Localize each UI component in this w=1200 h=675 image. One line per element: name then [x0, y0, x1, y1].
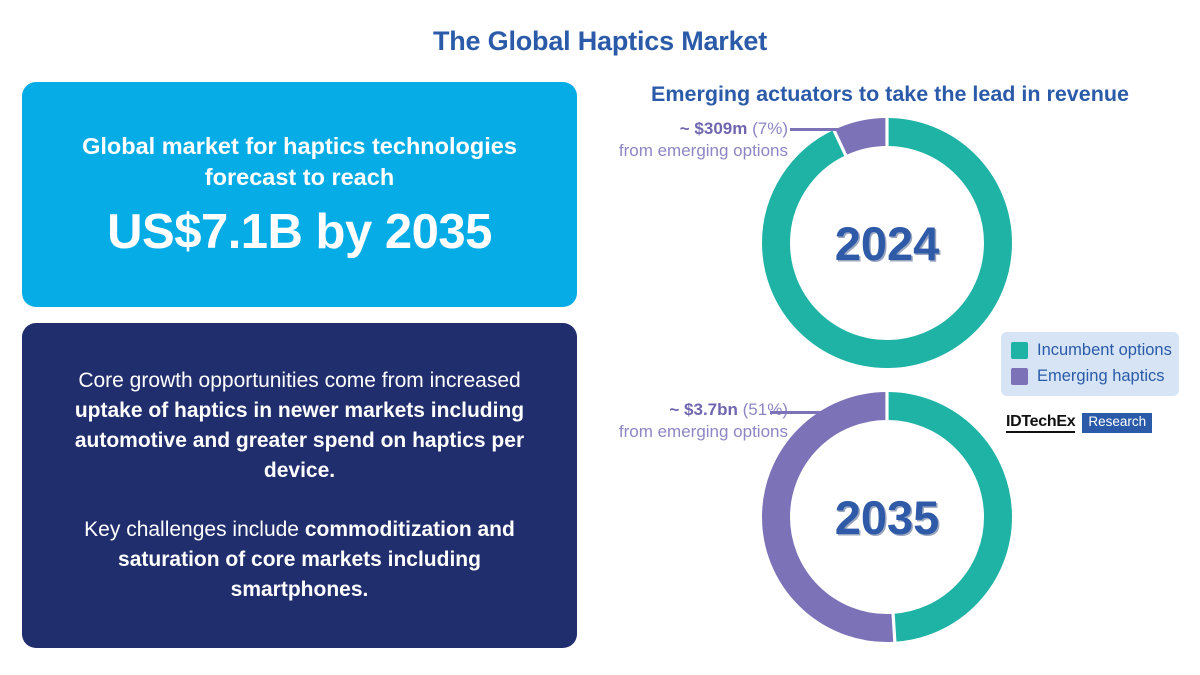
legend-swatch-emerging-icon — [1011, 368, 1028, 385]
callout-2024-line1: ~ $309m (7%) — [596, 118, 788, 140]
callout-2024-leader-line — [790, 128, 870, 131]
callout-2024-value: ~ $309m — [680, 119, 748, 138]
logo-name: IDTechEx — [1006, 413, 1075, 433]
callout-2024-source: from emerging options — [596, 140, 788, 162]
detail-paragraph-1-text: Core growth opportunities come from incr… — [78, 369, 520, 392]
detail-paragraph-2-text: Key challenges include — [84, 518, 305, 541]
callout-2035-line1: ~ $3.7bn (51%) — [596, 399, 788, 421]
highlight-card-figure: US$7.1B by 2035 — [107, 207, 492, 258]
highlight-card-lede: Global market for haptics technologies f… — [56, 131, 543, 194]
callout-2035-percent: (51%) — [743, 400, 788, 419]
callout-2024-percent: (7%) — [752, 119, 788, 138]
donut-2024-center-label: 2024 — [762, 118, 1012, 368]
donut-2035-center-label: 2035 — [762, 392, 1012, 642]
logo-tag: Research — [1082, 413, 1152, 433]
legend-item-incumbent[interactable]: Incumbent options — [1011, 341, 1169, 360]
legend-swatch-incumbent-icon — [1011, 342, 1028, 359]
idtechex-logo[interactable]: IDTechEx Research — [1006, 413, 1152, 433]
detail-paragraph-2: Key challenges include commoditization a… — [52, 515, 547, 604]
callout-2024: ~ $309m (7%) from emerging options — [596, 118, 788, 162]
highlight-card: Global market for haptics technologies f… — [22, 82, 577, 307]
callout-2035: ~ $3.7bn (51%) from emerging options — [596, 399, 788, 443]
chart-legend: Incumbent options Emerging haptics — [1001, 332, 1179, 396]
donut-chart-2035: 2035 — [762, 392, 1012, 642]
detail-card: Core growth opportunities come from incr… — [22, 323, 577, 648]
detail-paragraph-1: Core growth opportunities come from incr… — [52, 366, 547, 485]
callout-2035-value: ~ $3.7bn — [669, 400, 738, 419]
detail-paragraph-1-emphasis: uptake of haptics in newer markets inclu… — [75, 399, 524, 482]
legend-label-incumbent: Incumbent options — [1037, 341, 1172, 360]
callout-2035-leader-line — [770, 411, 862, 414]
legend-label-emerging: Emerging haptics — [1037, 367, 1164, 386]
legend-item-emerging[interactable]: Emerging haptics — [1011, 367, 1169, 386]
callout-2035-source: from emerging options — [596, 421, 788, 443]
chart-heading: Emerging actuators to take the lead in r… — [600, 82, 1180, 107]
donut-chart-2024: 2024 — [762, 118, 1012, 368]
page-title: The Global Haptics Market — [0, 26, 1200, 57]
